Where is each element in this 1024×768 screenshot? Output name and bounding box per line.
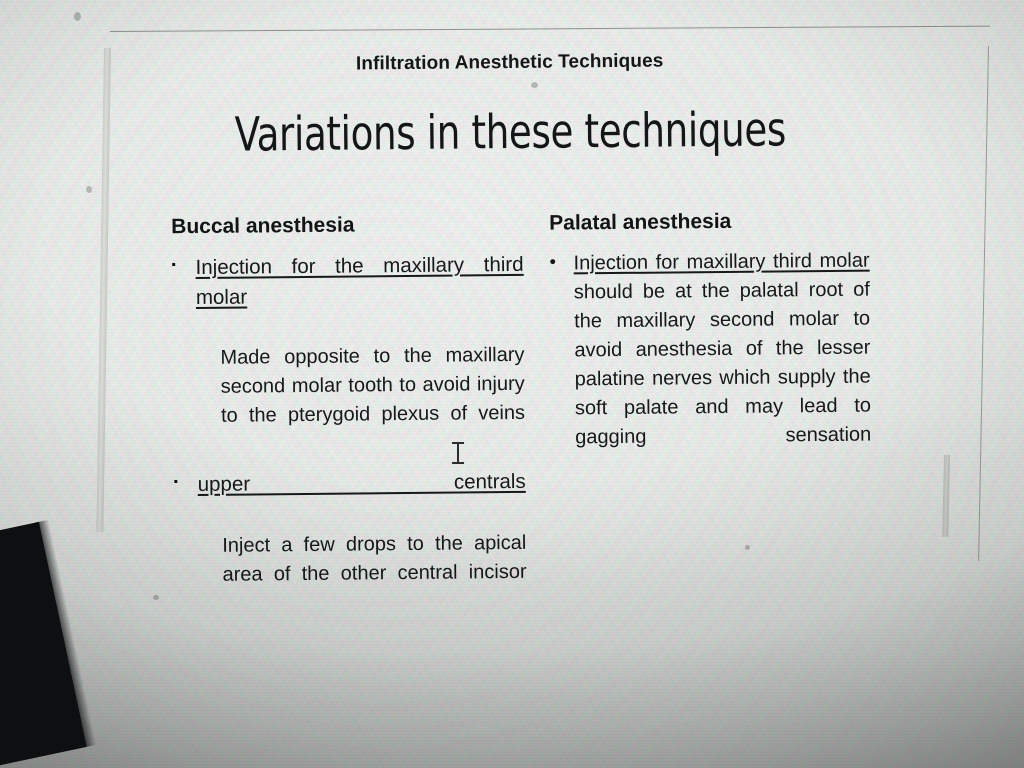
photographed-screen: Infiltration Anesthetic Techniques Varia… xyxy=(0,0,1024,768)
slide-kicker: Infiltration Anesthetic Techniques xyxy=(0,47,1022,79)
text-cursor-icon xyxy=(452,442,464,464)
bullet-body: should be at the palatal root of the max… xyxy=(574,279,872,449)
bullet-list: ▪ Injection for the maxillary third mola… xyxy=(171,250,526,619)
bullet-lead: Injection for maxillary third molar shou… xyxy=(573,247,871,482)
round-bullet-icon: • xyxy=(549,249,573,274)
bullet-lead: Injection for the maxillary third molar xyxy=(195,250,524,342)
bullet-list: • Injection for maxillary third molar sh… xyxy=(549,247,871,482)
bullet-lead: upper centrals xyxy=(198,467,527,530)
page-title: Variations in these techniques xyxy=(60,101,962,165)
list-item: • Injection for maxillary third molar sh… xyxy=(549,247,871,482)
square-bullet-icon: ▪ xyxy=(174,470,198,493)
bullet-lead-text: upper centrals xyxy=(198,470,526,496)
list-item: ▪ Injection for the maxillary third mola… xyxy=(171,250,525,461)
slide-content: Infiltration Anesthetic Techniques Varia… xyxy=(0,0,1024,768)
bullet-body: Made opposite to the maxillary second mo… xyxy=(172,341,525,460)
column-heading: Palatal anesthesia xyxy=(549,209,869,236)
bullet-lead-text: Injection for maxillary third molar xyxy=(573,250,869,275)
list-item: ▪ upper centrals Inject a few drops to t… xyxy=(174,467,527,619)
column-heading: Buccal anesthesia xyxy=(171,212,523,239)
bullet-lead-text: Injection for the maxillary third molar xyxy=(195,253,523,309)
column-palatal-anesthesia: Palatal anesthesia • Injection for maxil… xyxy=(549,209,872,488)
column-buccal-anesthesia: Buccal anesthesia ▪ Injection for the ma… xyxy=(171,212,527,629)
square-bullet-icon: ▪ xyxy=(171,253,195,276)
bullet-body: Inject a few drops to the apical area of… xyxy=(174,528,527,618)
